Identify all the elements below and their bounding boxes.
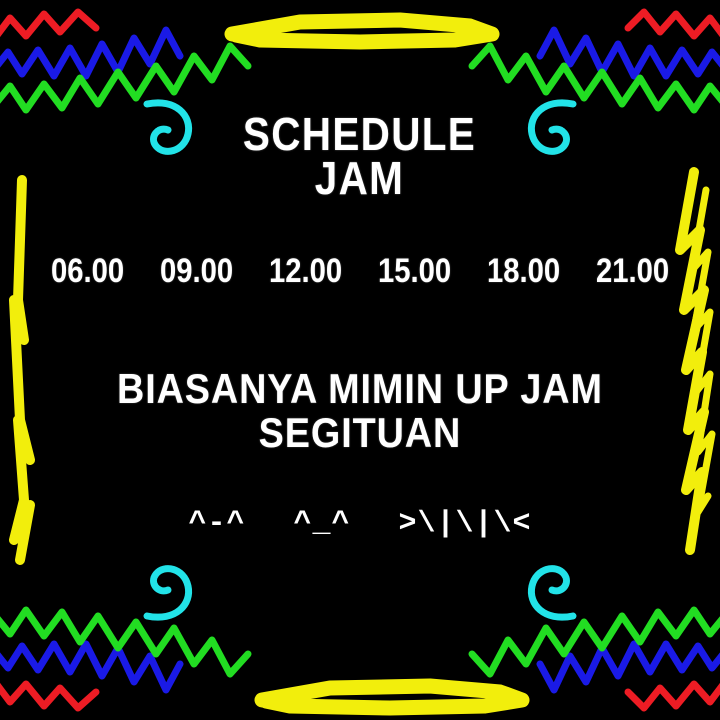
- schedule-time-1: 06.00: [51, 252, 124, 291]
- poster-canvas: SCHEDULE JAM 06.00 09.00 12.00 15.00 18.…: [0, 0, 720, 720]
- message-line-2: SEGITUAN: [117, 411, 603, 455]
- emoticon-3: >\|\|\<: [399, 507, 532, 541]
- schedule-time-6: 21.00: [596, 252, 669, 291]
- poster-content: SCHEDULE JAM 06.00 09.00 12.00 15.00 18.…: [0, 0, 720, 720]
- message-line-1: BIASANYA MIMIN UP JAM: [117, 367, 603, 411]
- emoticon-row: ^-^ ^_^ >\|\|\<: [188, 507, 531, 541]
- schedule-times-row: 06.00 09.00 12.00 15.00 18.00 21.00: [45, 252, 676, 291]
- title-block: SCHEDULE JAM: [227, 112, 492, 200]
- schedule-time-3: 12.00: [269, 252, 342, 291]
- schedule-time-2: 09.00: [160, 252, 233, 291]
- message-block: BIASANYA MIMIN UP JAM SEGITUAN: [90, 367, 630, 454]
- title-line-jam: JAM: [243, 156, 476, 200]
- emoticon-2: ^_^: [293, 507, 350, 541]
- schedule-time-4: 15.00: [378, 252, 451, 291]
- emoticon-1: ^-^: [188, 507, 245, 541]
- schedule-time-5: 18.00: [487, 252, 560, 291]
- title-line-schedule: SCHEDULE: [243, 112, 476, 156]
